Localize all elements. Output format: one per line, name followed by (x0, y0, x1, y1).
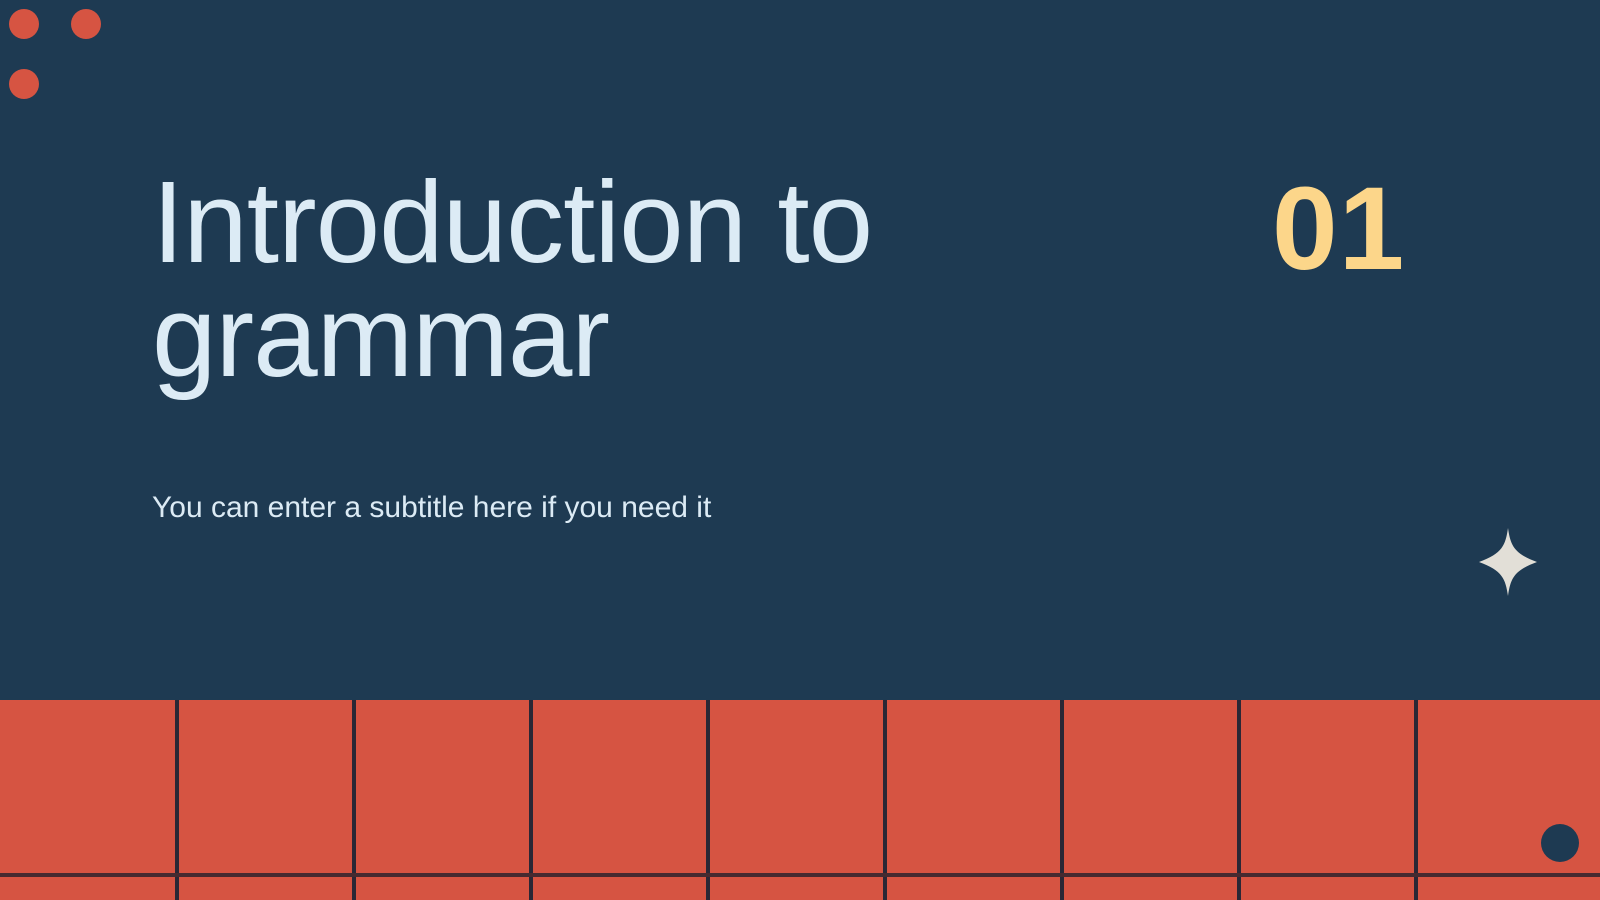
grid-accent-circle (1541, 824, 1579, 862)
grid-line-vertical (706, 700, 710, 900)
grid-line-horizontal (0, 873, 1600, 877)
decor-dot-2 (71, 9, 101, 39)
slide-canvas: Introduction to grammar 01 You can enter… (0, 0, 1600, 900)
grid-line-vertical (1060, 700, 1064, 900)
grid-line-vertical (1414, 700, 1418, 900)
grid-line-vertical (883, 700, 887, 900)
decor-dot-1 (9, 9, 39, 39)
decor-dot-3 (9, 69, 39, 99)
grid-line-vertical (352, 700, 356, 900)
bottom-grid-band (0, 700, 1600, 900)
grid-line-vertical (529, 700, 533, 900)
slide-subtitle: You can enter a subtitle here if you nee… (152, 488, 711, 527)
section-number: 01 (1272, 170, 1405, 288)
headline-block: Introduction to grammar (152, 166, 1052, 393)
four-point-star-icon (1479, 528, 1537, 596)
grid-line-vertical (175, 700, 179, 900)
slide-title: Introduction to grammar (152, 166, 1052, 393)
grid-line-vertical (1237, 700, 1241, 900)
